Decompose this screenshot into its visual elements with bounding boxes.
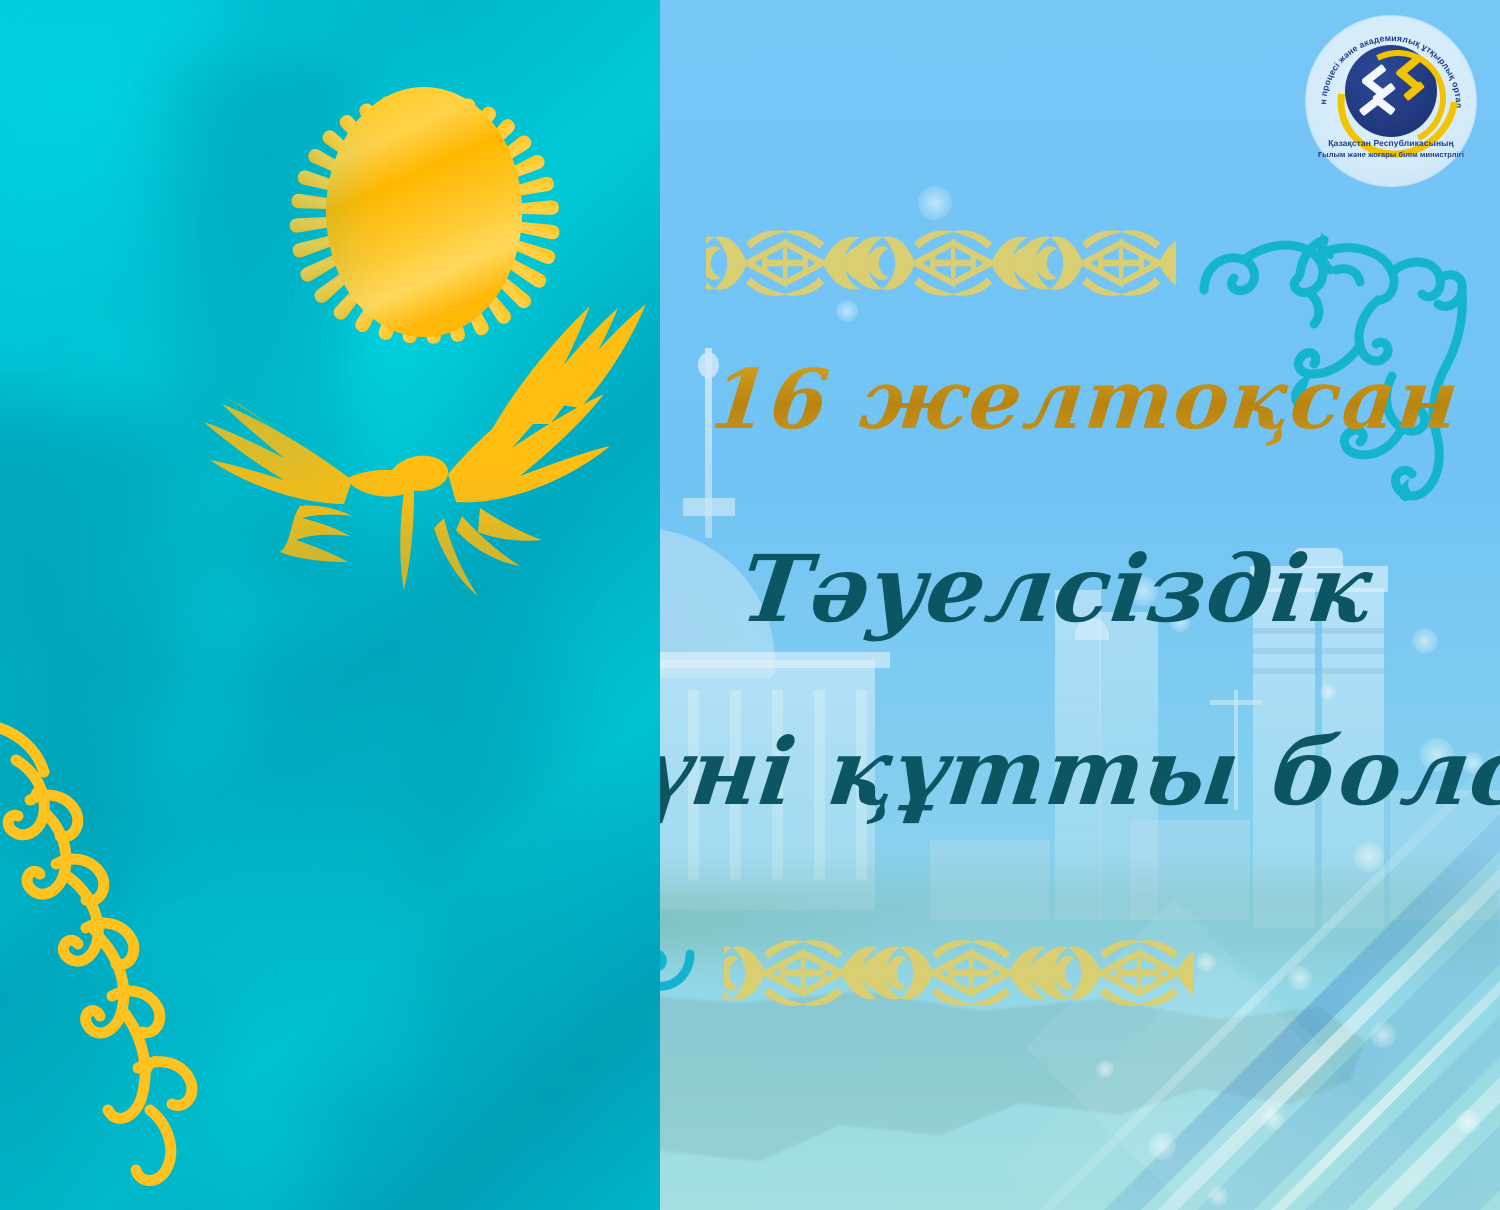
koshkar-muiz-ornament bbox=[0, 728, 192, 1181]
logo-title-line-2: Ғылым және жоғары білім министрлігі bbox=[1306, 150, 1476, 159]
bokeh-dot bbox=[1320, 684, 1336, 700]
greeting-title-line: Тәуелсіздік bbox=[735, 535, 1378, 643]
greeting-date-line: 16 желтоқсан bbox=[707, 352, 1465, 448]
bokeh-dot bbox=[1096, 1060, 1114, 1078]
kazakhstan-flag bbox=[0, 0, 660, 1210]
gold-ornament-band-top bbox=[706, 224, 1176, 302]
logo-title-line-1: Қазақстан Республикасының bbox=[1306, 138, 1476, 148]
gold-ornament-band-bottom bbox=[724, 934, 1194, 1012]
bokeh-dot bbox=[1196, 952, 1216, 972]
bokeh-dot bbox=[1288, 966, 1312, 990]
bokeh-dot bbox=[1456, 1110, 1480, 1134]
flag-fold bbox=[140, 120, 340, 480]
bokeh-dot bbox=[1354, 842, 1384, 872]
bokeh-dot bbox=[1370, 1022, 1396, 1048]
greeting-subtitle-line: күні құтты болсын! bbox=[568, 718, 1500, 826]
bokeh-dot bbox=[1148, 1132, 1176, 1160]
flag-fold bbox=[250, 520, 550, 820]
bokeh-dot bbox=[1412, 628, 1438, 654]
bokeh-dot bbox=[836, 300, 858, 322]
bokeh-dot bbox=[1262, 1108, 1284, 1130]
bokeh-dot bbox=[1208, 1186, 1228, 1206]
ministry-logo[interactable]: Болон процесі және академиялық ұтқырлық … bbox=[1306, 16, 1476, 186]
bokeh-dot bbox=[918, 186, 952, 220]
sun-disc bbox=[326, 87, 522, 337]
independence-day-greeting-card: 16 желтоқсан Тәуелсіздік күні құтты болс… bbox=[0, 0, 1500, 1210]
